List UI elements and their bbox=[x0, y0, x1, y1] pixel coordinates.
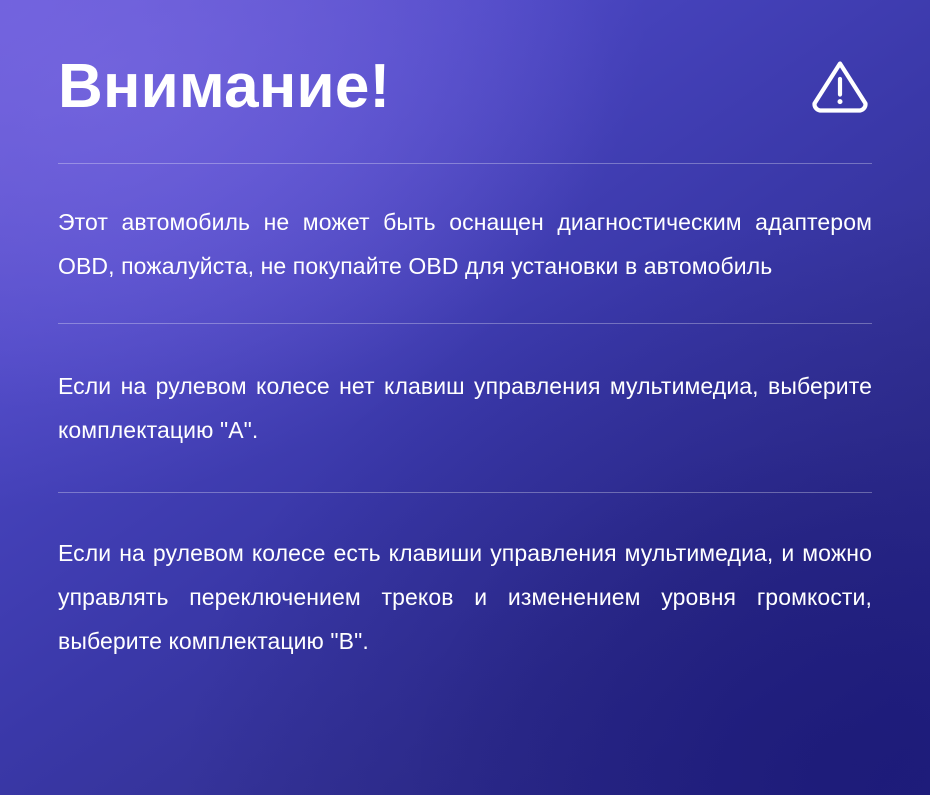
warning-poster: Внимание! Этот автомобиль не может быть … bbox=[0, 0, 930, 795]
poster-header: Внимание! bbox=[58, 0, 872, 163]
poster-content: Внимание! Этот автомобиль не может быть … bbox=[0, 0, 930, 703]
section-variant-a: Если на рулевом колесе нет клавиш управл… bbox=[58, 324, 872, 492]
section-text: Если на рулевом колесе нет клавиш управл… bbox=[58, 364, 872, 452]
section-variant-b: Если на рулевом колесе есть клавиши упра… bbox=[58, 493, 872, 703]
page-title: Внимание! bbox=[58, 46, 390, 118]
section-obd-warning: Этот автомобиль не может быть оснащен ди… bbox=[58, 164, 872, 323]
section-text: Этот автомобиль не может быть оснащен ди… bbox=[58, 200, 872, 288]
warning-triangle-icon bbox=[808, 53, 872, 117]
section-text: Если на рулевом колесе есть клавиши упра… bbox=[58, 531, 872, 663]
